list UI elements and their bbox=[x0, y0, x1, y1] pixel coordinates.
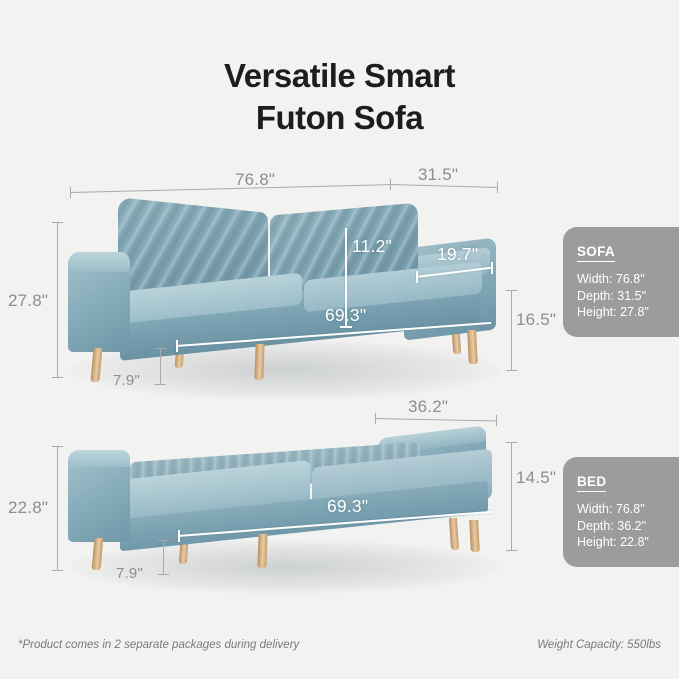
bed-seat-width-tick-left bbox=[178, 530, 180, 542]
bed-leg-front-mid bbox=[257, 534, 267, 568]
bed-leg-tick-top bbox=[158, 540, 169, 541]
sofa-arm-left-top bbox=[68, 252, 130, 272]
sofa-height-tick-bottom bbox=[52, 377, 63, 378]
bed-height-tick-top bbox=[52, 446, 63, 447]
bed-height-line bbox=[57, 446, 58, 570]
sofa-back-cushion-tick-bottom bbox=[340, 326, 352, 328]
footer: *Product comes in 2 separate packages du… bbox=[18, 639, 661, 651]
bed-height-tick-bottom bbox=[52, 570, 63, 571]
sofa-card-height: Height: 27.8" bbox=[577, 304, 679, 321]
bed-depth-line bbox=[375, 418, 497, 422]
sofa-seat-width-tick-left bbox=[176, 340, 178, 352]
sofa-top-line-width bbox=[70, 184, 390, 193]
sofa-seat-height-tick-top bbox=[506, 290, 517, 291]
sofa-armrest-tick-left bbox=[416, 271, 418, 283]
title-line-1: Versatile Smart bbox=[224, 57, 455, 94]
sofa-seat-height-tick-bottom bbox=[506, 370, 517, 371]
bed-arm-left-top bbox=[68, 450, 130, 467]
sofa-top-tick-right bbox=[497, 182, 498, 193]
sofa-seat-width-label: 69.3" bbox=[325, 305, 366, 326]
footer-capacity: Weight Capacity: 550lbs bbox=[537, 639, 661, 651]
bed-card-height: Height: 22.8" bbox=[577, 534, 679, 551]
sofa-top-tick-left bbox=[70, 187, 71, 198]
sofa-top-tick-mid bbox=[390, 179, 391, 190]
sofa-armrest-tick-right bbox=[491, 262, 493, 274]
sofa-back-cushion-label: 11.2" bbox=[352, 236, 392, 257]
bed-surface-tick-bottom bbox=[506, 550, 517, 551]
bed-info-card: BED Width: 76.8" Depth: 36.2" Height: 22… bbox=[563, 457, 679, 567]
sofa-leg-height-label: 7.9" bbox=[113, 372, 140, 389]
bed-leg-tick-bottom bbox=[158, 574, 169, 575]
bed-surface-height-line bbox=[511, 442, 512, 550]
bed-depth-label: 36.2" bbox=[408, 397, 448, 417]
sofa-width-label: 76.8" bbox=[235, 170, 275, 190]
sofa-height-line bbox=[57, 222, 58, 377]
sofa-seat-height-label: 16.5" bbox=[516, 310, 556, 330]
sofa-height-label: 27.8" bbox=[8, 291, 48, 311]
sofa-height-tick-top bbox=[52, 222, 63, 223]
sofa-leg-tick-top bbox=[155, 348, 166, 349]
page-title: Versatile Smart Futon Sofa bbox=[0, 55, 679, 139]
bed-height-label: 22.8" bbox=[8, 498, 48, 518]
bed-card-heading: BED bbox=[577, 474, 606, 492]
bed-leg-height-line bbox=[163, 540, 164, 574]
bed-surface-height-label: 14.5" bbox=[516, 468, 556, 488]
footer-note: *Product comes in 2 separate packages du… bbox=[18, 639, 299, 651]
sofa-card-width: Width: 76.8" bbox=[577, 271, 679, 288]
sofa-leg-front-mid bbox=[254, 344, 264, 380]
bed-surface-tick-top bbox=[506, 442, 517, 443]
bed-leg-back-right bbox=[449, 518, 459, 550]
bed-leg-height-label: 7.9" bbox=[116, 565, 143, 582]
sofa-armrest-label: 19.7" bbox=[437, 244, 478, 265]
sofa-card-heading: SOFA bbox=[577, 244, 615, 262]
sofa-depth-label: 31.5" bbox=[418, 165, 458, 185]
bed-leg-front-right bbox=[469, 520, 480, 552]
bed-depth-tick-left bbox=[375, 413, 376, 424]
sofa-seat-height-line bbox=[511, 290, 512, 370]
bed-card-width: Width: 76.8" bbox=[577, 501, 679, 518]
sofa-info-card: SOFA Width: 76.8" Depth: 31.5" Height: 2… bbox=[563, 227, 679, 337]
bed-depth-tick-right bbox=[496, 415, 497, 426]
sofa-card-depth: Depth: 31.5" bbox=[577, 288, 679, 305]
bed-card-depth: Depth: 36.2" bbox=[577, 518, 679, 535]
sofa-leg-front-right bbox=[467, 330, 478, 364]
bed-seat-width-label: 69.3" bbox=[327, 496, 368, 517]
sofa-leg-height-line bbox=[160, 348, 161, 384]
title-line-2: Futon Sofa bbox=[0, 97, 679, 139]
sofa-leg-tick-bottom bbox=[155, 384, 166, 385]
infographic-canvas: Versatile Smart Futon Sofa 76 bbox=[0, 0, 679, 679]
